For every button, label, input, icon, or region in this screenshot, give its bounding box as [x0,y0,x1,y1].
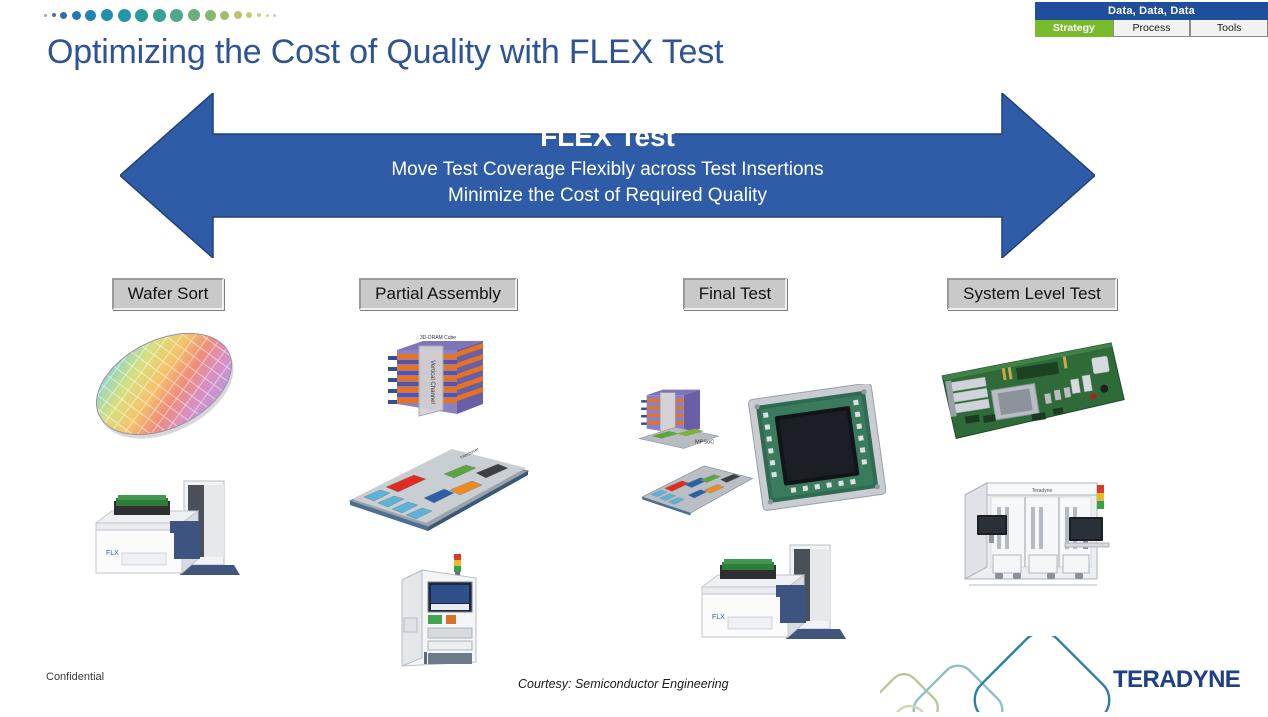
page-title: Optimizing the Cost of Quality with FLEX… [47,33,723,72]
stage-column-partial-assembly: Partial Assembly 3D-DRAM Cube [340,278,536,679]
packaged-chip-and-dies-icon: MPSoC [636,384,886,534]
silicon-wafer-icon [78,326,258,446]
decorative-dot-6 [118,9,131,22]
decorative-dot-strip [44,6,276,24]
decorative-dot-10 [188,9,200,21]
svg-text:FLX: FLX [106,550,119,557]
system-level-test-cell-icon: Teradyne [947,467,1117,595]
confidential-label: Confidential [46,671,104,683]
stage-label-row: Partial Assembly [340,278,536,310]
svg-text:FLX: FLX [712,614,725,621]
stage-label-row: System Level Test [932,278,1132,310]
decorative-dot-17 [273,14,276,17]
banner-line-1: Move Test Coverage Flexibly across Test … [120,157,1095,183]
system-pcb-art [932,338,1132,453]
nav-title: Data, Data, Data [1035,2,1268,20]
decorative-dot-5 [101,9,113,21]
ate-tester-tower-icon [388,552,488,674]
stage-column-system-level-test: System Level Test [932,278,1132,600]
tab-process[interactable]: Process [1113,20,1191,37]
wafer-prober-handler-icon: FLX [88,477,248,582]
flex-test-arrow-banner: FLEX Test Move Test Coverage Flexibly ac… [120,93,1095,258]
decorative-dot-7 [135,9,148,22]
decorative-dot-1 [52,13,56,17]
decorative-dot-0 [44,14,47,17]
stage-label-wafer-sort[interactable]: Wafer Sort [112,278,225,310]
courtesy-label: Courtesy: Semiconductor Engineering [518,677,729,691]
handler-art: FLX [636,541,834,651]
teradyne-wordmark: TERADYNE [1113,666,1240,694]
tab-tools[interactable]: Tools [1190,20,1268,37]
svg-text:MPSoC: MPSoC [695,440,714,446]
slide-canvas: Data, Data, Data Strategy Process Tools … [0,0,1268,712]
prober-art: FLX [78,477,258,587]
decorative-dot-12 [220,11,229,20]
dram-cube-art: 3D-DRAM Cube [340,332,536,429]
stage-column-final-test: Final Test [636,278,834,651]
decorative-dot-11 [205,10,216,21]
stage-label-final-test[interactable]: Final Test [683,278,787,310]
decorative-dot-14 [246,12,252,18]
data-data-data-nav-widget: Data, Data, Data Strategy Process Tools [1035,2,1268,37]
system-pcb-board-icon [932,338,1132,448]
decorative-dot-16 [266,14,269,17]
teradyne-logo-mark [880,636,1140,712]
decorative-dot-2 [60,12,67,19]
teradyne-diamond-graphic [880,636,1140,712]
stage-label-row: Wafer Sort [78,278,258,310]
decorative-dot-8 [153,9,166,22]
decorative-dot-15 [257,13,261,17]
interposer-substrate-board-icon: Interposer [340,435,536,535]
slt-cell-art: Teradyne [932,467,1132,600]
decorative-dot-3 [72,11,81,20]
stage-label-system-level-test[interactable]: System Level Test [947,278,1117,310]
wafer-art [78,326,258,451]
banner-heading: FLEX Test [120,117,1095,157]
decorative-dot-9 [170,9,183,22]
3d-dram-cube-icon: 3D-DRAM Cube [383,332,493,424]
decorative-dot-13 [234,11,242,19]
device-handler-icon: FLX [694,541,854,646]
interposer-art: Interposer [340,435,536,540]
banner-line-2: Minimize the Cost of Required Quality [120,183,1095,209]
nav-tabs: Strategy Process Tools [1035,20,1268,37]
svg-text:Teradyne: Teradyne [1032,488,1053,494]
stage-label-row: Final Test [636,278,834,310]
decorative-dot-4 [85,10,96,21]
stage-column-wafer-sort: Wafer Sort [78,278,258,587]
dram-cube-caption: 3D-DRAM Cube [420,335,456,341]
banner-text-block: FLEX Test Move Test Coverage Flexibly ac… [120,117,1095,209]
tester-tower-art [340,552,536,679]
vertical-channel-caption: Vertical Channel [429,360,435,404]
test-insertion-columns: Wafer Sort [0,278,1268,658]
final-test-devices-art: MPSoC [636,384,834,539]
tab-strategy[interactable]: Strategy [1035,20,1113,37]
stage-label-partial-assembly[interactable]: Partial Assembly [359,278,517,310]
